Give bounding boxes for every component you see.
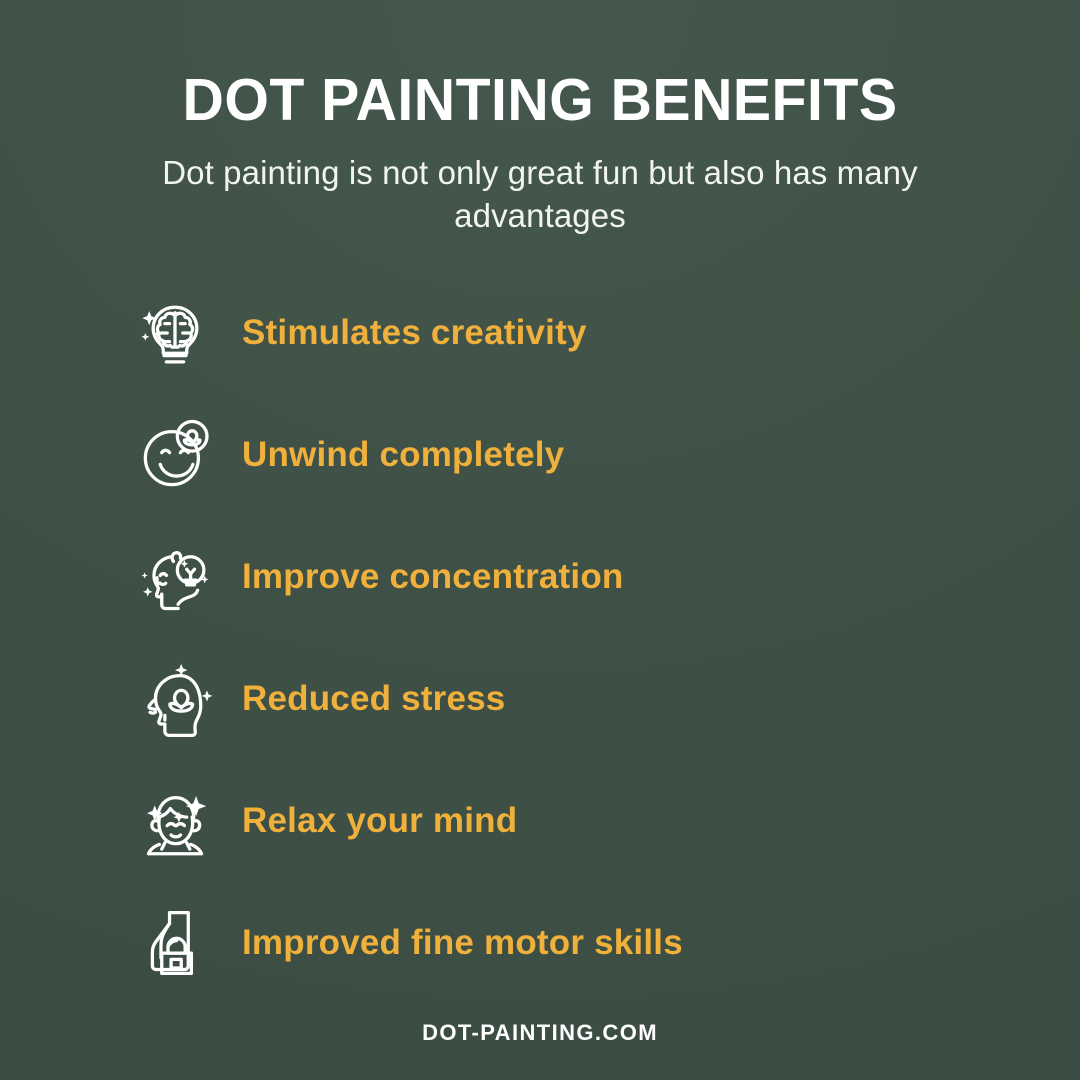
benefit-label: Improved fine motor skills (242, 923, 683, 963)
lightbulb-brain-icon (136, 291, 214, 375)
benefit-item-stimulates-creativity: Stimulates creativity (0, 272, 1080, 394)
head-lotus-icon (136, 657, 214, 741)
page-subtitle: Dot painting is not only great fun but a… (145, 152, 935, 238)
benefit-label: Relax your mind (242, 801, 517, 841)
smiling-face-flower-icon (136, 413, 214, 497)
benefit-item-improved-fine-motor-skills: Improved fine motor skills (0, 882, 1080, 1004)
benefit-label: Stimulates creativity (242, 313, 587, 353)
head-lightbulb-icon (136, 535, 214, 619)
page-title: DOT PAINTING BENEFITS (16, 70, 1064, 130)
benefit-label: Unwind completely (242, 435, 564, 475)
benefit-item-unwind-completely: Unwind completely (0, 394, 1080, 516)
poster-header: DOT PAINTING BENEFITS Dot painting is no… (0, 0, 1080, 238)
relaxed-face-sparkle-icon (136, 779, 214, 863)
benefit-label: Reduced stress (242, 679, 505, 719)
benefit-item-reduced-stress: Reduced stress (0, 638, 1080, 760)
benefit-item-improve-concentration: Improve concentration (0, 516, 1080, 638)
infographic-poster: DOT PAINTING BENEFITS Dot painting is no… (0, 0, 1080, 1080)
hand-holding-block-icon (136, 901, 214, 985)
benefits-list: Stimulates creativity Unwind completely (0, 272, 1080, 1004)
poster-footer: DOT-PAINTING.COM (0, 1020, 1080, 1046)
website-url: DOT-PAINTING.COM (422, 1020, 658, 1045)
benefit-item-relax-your-mind: Relax your mind (0, 760, 1080, 882)
benefit-label: Improve concentration (242, 557, 624, 597)
